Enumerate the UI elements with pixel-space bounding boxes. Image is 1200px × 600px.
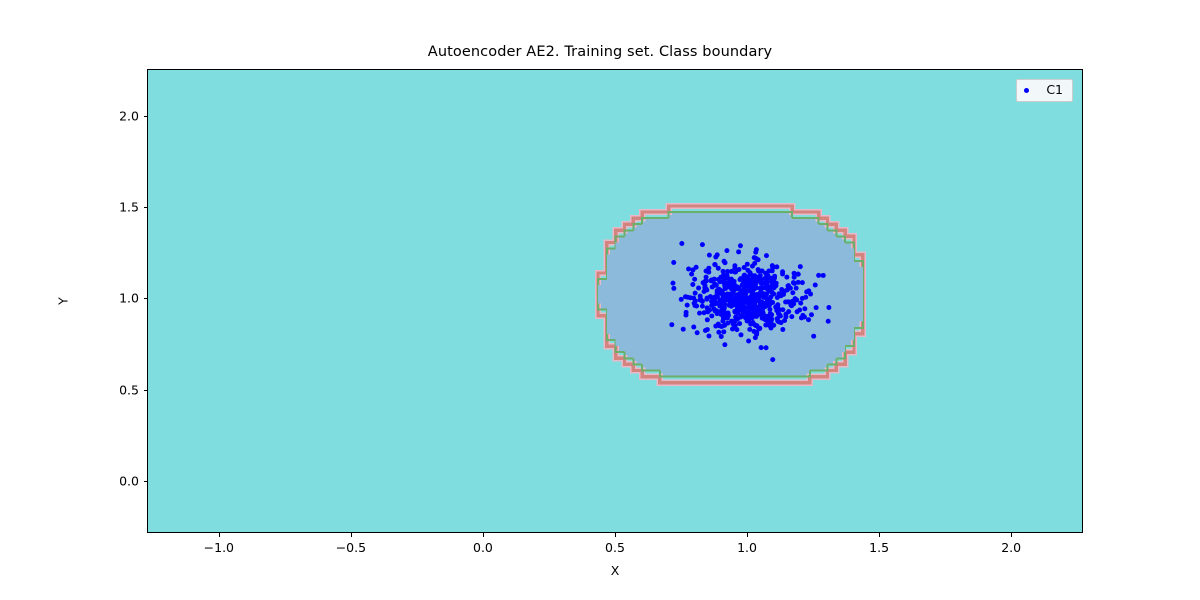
scatter-point bbox=[702, 310, 707, 315]
scatter-point bbox=[735, 306, 740, 311]
scatter-point bbox=[800, 313, 805, 318]
scatter-point bbox=[748, 322, 753, 327]
scatter-point bbox=[737, 321, 742, 326]
scatter-point bbox=[695, 330, 700, 335]
scatter-point bbox=[670, 281, 675, 286]
scatter-point bbox=[719, 334, 724, 339]
scatter-point bbox=[774, 305, 779, 310]
y-tick-label: 2.0 bbox=[106, 108, 139, 123]
scatter-point bbox=[753, 250, 758, 255]
scatter-point bbox=[750, 315, 755, 320]
scatter-point bbox=[722, 282, 727, 287]
scatter-point bbox=[755, 306, 760, 311]
scatter-point bbox=[770, 357, 775, 362]
scatter-series-c1 bbox=[669, 241, 831, 362]
scatter-point bbox=[743, 294, 748, 299]
scatter-point bbox=[779, 287, 784, 292]
page-title: Autoencoder AE2. Training set. Class bou… bbox=[0, 44, 1200, 60]
scatter-point bbox=[754, 313, 759, 318]
scatter-point bbox=[709, 313, 714, 318]
scatter-point bbox=[689, 272, 694, 277]
scatter-point bbox=[700, 304, 705, 309]
scatter-point bbox=[745, 262, 750, 267]
y-tick-label: 0.0 bbox=[106, 473, 139, 488]
matplotlib-figure: Autoencoder AE2. Training set. Class bou… bbox=[0, 0, 1200, 600]
scatter-point bbox=[780, 271, 785, 276]
scatter-point bbox=[795, 309, 800, 314]
scatter-point bbox=[709, 278, 714, 283]
scatter-point bbox=[750, 264, 755, 269]
scatter-point bbox=[722, 342, 727, 347]
scatter-point bbox=[734, 296, 739, 301]
scatter-point bbox=[671, 260, 676, 265]
scatter-point bbox=[718, 309, 723, 314]
scatter-point bbox=[728, 277, 733, 282]
scatter-point bbox=[694, 265, 699, 270]
x-tick-label: 1.5 bbox=[869, 540, 889, 555]
scatter-point bbox=[767, 320, 772, 325]
legend[interactable]: C1 bbox=[1016, 79, 1073, 102]
scatter-point bbox=[696, 285, 701, 290]
x-tick-mark bbox=[351, 533, 352, 537]
scatter-point bbox=[809, 312, 814, 317]
x-tick-mark bbox=[615, 533, 616, 537]
scatter-point bbox=[798, 264, 803, 269]
scatter-point bbox=[752, 255, 757, 260]
scatter-point bbox=[737, 267, 742, 272]
x-axis-label: X bbox=[147, 563, 1083, 578]
scatter-point bbox=[685, 303, 690, 308]
scatter-point bbox=[811, 334, 816, 339]
scatter-point bbox=[712, 262, 717, 267]
scatter-point bbox=[700, 242, 705, 247]
scatter-point bbox=[755, 323, 760, 328]
scatter-point bbox=[826, 319, 831, 324]
scatter-point bbox=[706, 334, 711, 339]
scatter-point bbox=[692, 303, 697, 308]
x-tick-label: 0.5 bbox=[605, 540, 625, 555]
scatter-point bbox=[752, 297, 757, 302]
scatter-point bbox=[702, 285, 707, 290]
x-tick-label: −1.0 bbox=[204, 540, 234, 555]
scatter-point bbox=[739, 332, 744, 337]
x-tick-label: 0.0 bbox=[473, 540, 493, 555]
scatter-point bbox=[707, 308, 712, 313]
scatter-point bbox=[726, 313, 731, 318]
y-tick-mark bbox=[144, 116, 148, 117]
y-axis-label: Y bbox=[56, 297, 71, 305]
scatter-point bbox=[734, 286, 739, 291]
scatter-point bbox=[746, 339, 751, 344]
scatter-point bbox=[712, 295, 717, 300]
scatter-point bbox=[705, 317, 710, 322]
scatter-point bbox=[786, 283, 791, 288]
scatter-point bbox=[704, 296, 709, 301]
scatter-point bbox=[740, 282, 745, 287]
scatter-point bbox=[722, 259, 727, 264]
scatter-point bbox=[774, 264, 779, 269]
scatter-point bbox=[759, 292, 764, 297]
scatter-point bbox=[766, 273, 771, 278]
legend-marker-dot-icon bbox=[1024, 88, 1029, 93]
scatter-point bbox=[770, 263, 775, 268]
scatter-point bbox=[671, 286, 676, 291]
scatter-point bbox=[794, 286, 799, 291]
scatter-point bbox=[703, 279, 708, 284]
scatter-point bbox=[808, 292, 813, 297]
legend-label: C1 bbox=[1046, 84, 1063, 97]
scatter-point bbox=[756, 297, 761, 302]
scatter-point bbox=[813, 283, 818, 288]
scatter-point bbox=[740, 309, 745, 314]
x-tick-mark bbox=[879, 533, 880, 537]
scatter-point bbox=[743, 315, 748, 320]
scatter-point bbox=[730, 321, 735, 326]
scatter-point bbox=[826, 305, 831, 310]
x-tick-mark bbox=[483, 533, 484, 537]
scatter-point bbox=[735, 316, 740, 321]
scatter-point bbox=[758, 277, 763, 282]
scatter-point bbox=[780, 327, 785, 332]
scatter-point bbox=[766, 284, 771, 289]
y-tick-mark bbox=[144, 390, 148, 391]
x-tick-label: −0.5 bbox=[336, 540, 366, 555]
scatter-point bbox=[714, 301, 719, 306]
scatter-point bbox=[691, 296, 696, 301]
scatter-points-layer bbox=[148, 70, 1082, 532]
y-tick-mark bbox=[144, 298, 148, 299]
scatter-point bbox=[737, 277, 742, 282]
scatter-point bbox=[766, 269, 771, 274]
scatter-point bbox=[814, 305, 819, 310]
scatter-point bbox=[725, 269, 730, 274]
scatter-point bbox=[729, 286, 734, 291]
scatter-point bbox=[771, 291, 776, 296]
scatter-point bbox=[798, 301, 803, 306]
scatter-point bbox=[706, 270, 711, 275]
scatter-point bbox=[727, 303, 732, 308]
scatter-point bbox=[738, 243, 743, 248]
x-tick-label: 2.0 bbox=[1001, 540, 1021, 555]
scatter-point bbox=[777, 312, 782, 317]
y-tick-mark bbox=[144, 481, 148, 482]
x-tick-mark bbox=[747, 533, 748, 537]
scatter-point bbox=[717, 323, 722, 328]
x-tick-mark bbox=[219, 533, 220, 537]
scatter-point bbox=[716, 330, 721, 335]
scatter-point bbox=[759, 345, 764, 350]
scatter-point bbox=[716, 266, 721, 271]
scatter-point bbox=[789, 314, 794, 319]
scatter-point bbox=[714, 283, 719, 288]
scatter-point bbox=[707, 253, 712, 258]
scatter-point bbox=[748, 289, 753, 294]
scatter-point bbox=[725, 298, 730, 303]
scatter-point bbox=[784, 275, 789, 280]
scatter-point bbox=[681, 327, 686, 332]
scatter-point bbox=[700, 299, 705, 304]
scatter-point bbox=[703, 328, 708, 333]
y-tick-label: 1.0 bbox=[106, 291, 139, 306]
scatter-point bbox=[721, 329, 726, 334]
scatter-point bbox=[753, 335, 758, 340]
scatter-point bbox=[776, 319, 781, 324]
scatter-point bbox=[800, 280, 805, 285]
scatter-point bbox=[748, 281, 753, 286]
scatter-point bbox=[764, 345, 769, 350]
scatter-point bbox=[686, 266, 691, 271]
scatter-point bbox=[679, 241, 684, 246]
scatter-point bbox=[679, 297, 684, 302]
scatter-point bbox=[691, 325, 696, 330]
scatter-point bbox=[821, 273, 826, 278]
x-tick-mark bbox=[1011, 533, 1012, 537]
legend-entry[interactable]: C1 bbox=[1024, 84, 1063, 97]
scatter-point bbox=[752, 273, 757, 278]
scatter-point bbox=[747, 327, 752, 332]
scatter-point bbox=[806, 317, 811, 322]
scatter-point bbox=[764, 253, 769, 258]
plot-area: C1 bbox=[147, 69, 1083, 533]
scatter-point bbox=[693, 291, 698, 296]
scatter-point bbox=[754, 330, 759, 335]
scatter-point bbox=[783, 312, 788, 317]
scatter-point bbox=[802, 306, 807, 311]
scatter-point bbox=[722, 323, 727, 328]
scatter-point bbox=[777, 292, 782, 297]
scatter-point bbox=[713, 254, 718, 259]
scatter-point bbox=[774, 281, 779, 286]
scatter-point bbox=[796, 272, 801, 277]
scatter-point bbox=[816, 273, 821, 278]
scatter-point bbox=[697, 311, 702, 316]
scatter-point bbox=[760, 269, 765, 274]
scatter-point bbox=[690, 282, 695, 287]
y-tick-mark bbox=[144, 207, 148, 208]
scatter-point bbox=[790, 290, 795, 295]
scatter-point bbox=[736, 249, 741, 254]
scatter-point bbox=[800, 296, 805, 301]
x-tick-label: 1.0 bbox=[737, 540, 757, 555]
scatter-point bbox=[716, 277, 721, 282]
scatter-point bbox=[718, 288, 723, 293]
y-tick-label: 0.5 bbox=[106, 382, 139, 397]
scatter-point bbox=[669, 322, 674, 327]
scatter-point bbox=[692, 277, 697, 282]
scatter-point bbox=[721, 273, 726, 278]
scatter-point bbox=[759, 281, 764, 286]
scatter-point bbox=[684, 310, 689, 315]
scatter-point bbox=[685, 295, 690, 300]
scatter-point bbox=[786, 299, 791, 304]
scatter-point bbox=[768, 311, 773, 316]
y-tick-label: 1.5 bbox=[106, 199, 139, 214]
scatter-point bbox=[735, 301, 740, 306]
scatter-point bbox=[724, 248, 729, 253]
scatter-point bbox=[764, 303, 769, 308]
